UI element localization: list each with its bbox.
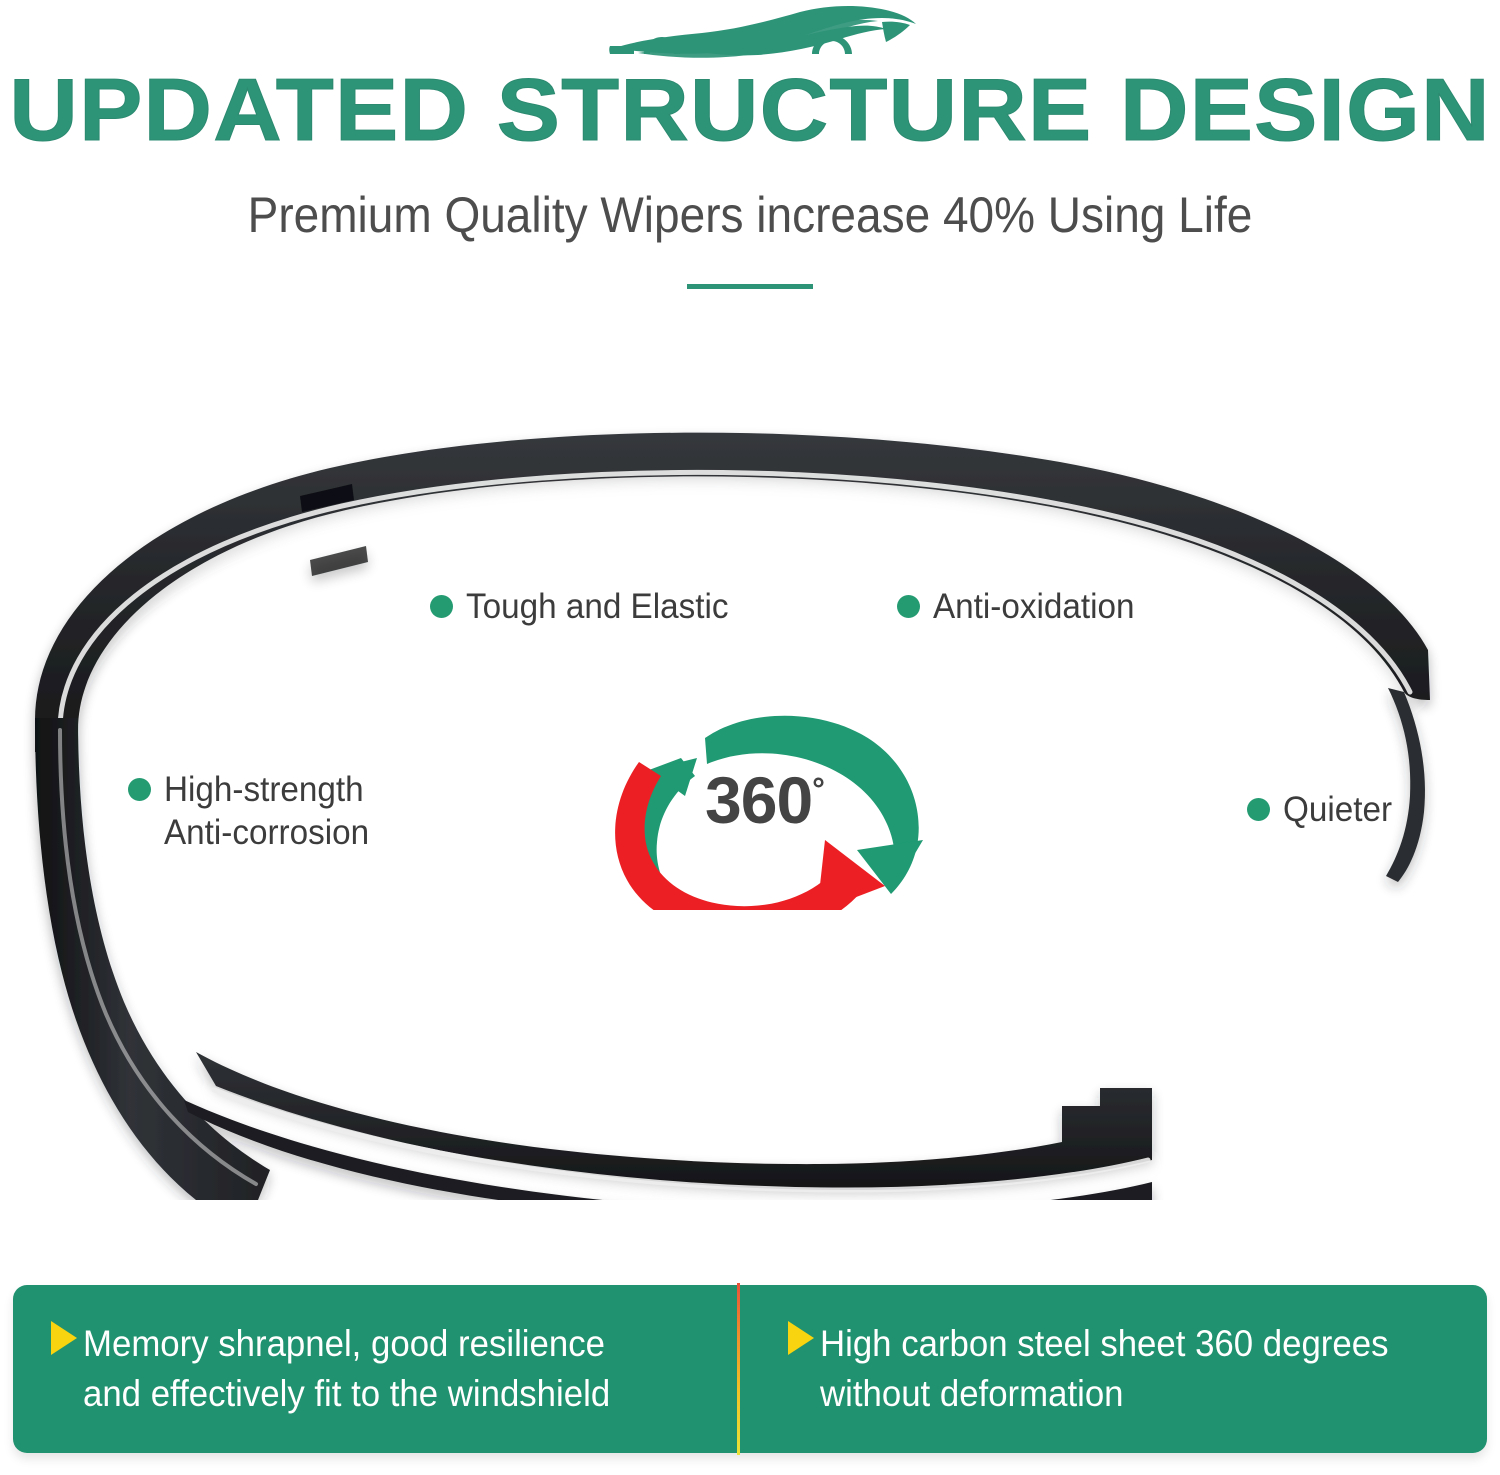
feature-label: High-strength Anti-corrosion xyxy=(164,768,369,854)
banner-column-left: Memory shrapnel, good resilience and eff… xyxy=(13,1285,750,1453)
feature-label: Tough and Elastic xyxy=(466,585,728,628)
bullet-dot-icon xyxy=(1247,798,1270,821)
triangle-arrow-icon xyxy=(51,1321,77,1355)
title-underline-divider xyxy=(687,284,813,289)
bullet-dot-icon xyxy=(897,595,920,618)
rotation-360-badge: 360° xyxy=(585,700,945,910)
badge-number: 360 xyxy=(705,763,812,837)
feature-tough-and-elastic: Tough and Elastic xyxy=(430,585,742,628)
banner-divider xyxy=(737,1283,740,1455)
feature-label: Quieter xyxy=(1283,788,1392,831)
feature-high-strength-anti-corrosion: High-strength Anti-corrosion xyxy=(128,768,380,854)
feature-anti-oxidation: Anti-oxidation xyxy=(897,585,1145,628)
feature-label: Anti-oxidation xyxy=(933,585,1134,628)
page-title: UPDATED STRUCTURE DESIGN xyxy=(0,62,1500,158)
banner-text: Memory shrapnel, good resilience and eff… xyxy=(83,1319,610,1419)
page-subtitle: Premium Quality Wipers increase 40% Usin… xyxy=(60,184,1440,246)
product-infographic-page: UPDATED STRUCTURE DESIGN Premium Quality… xyxy=(0,0,1500,1475)
banner-column-right: High carbon steel sheet 360 degrees with… xyxy=(750,1285,1487,1453)
bullet-dot-icon xyxy=(128,778,151,801)
bottom-feature-banner: Memory shrapnel, good resilience and eff… xyxy=(13,1285,1487,1453)
feature-quieter: Quieter xyxy=(1247,788,1398,831)
bullet-dot-icon xyxy=(430,595,453,618)
degree-symbol-icon: ° xyxy=(812,771,825,807)
triangle-arrow-icon xyxy=(788,1321,814,1355)
badge-360-value: 360° xyxy=(585,754,945,835)
car-silhouette-icon xyxy=(600,2,920,66)
wiper-band-bottom-upper-run xyxy=(196,1052,1152,1190)
banner-text: High carbon steel sheet 360 degrees with… xyxy=(820,1319,1388,1419)
